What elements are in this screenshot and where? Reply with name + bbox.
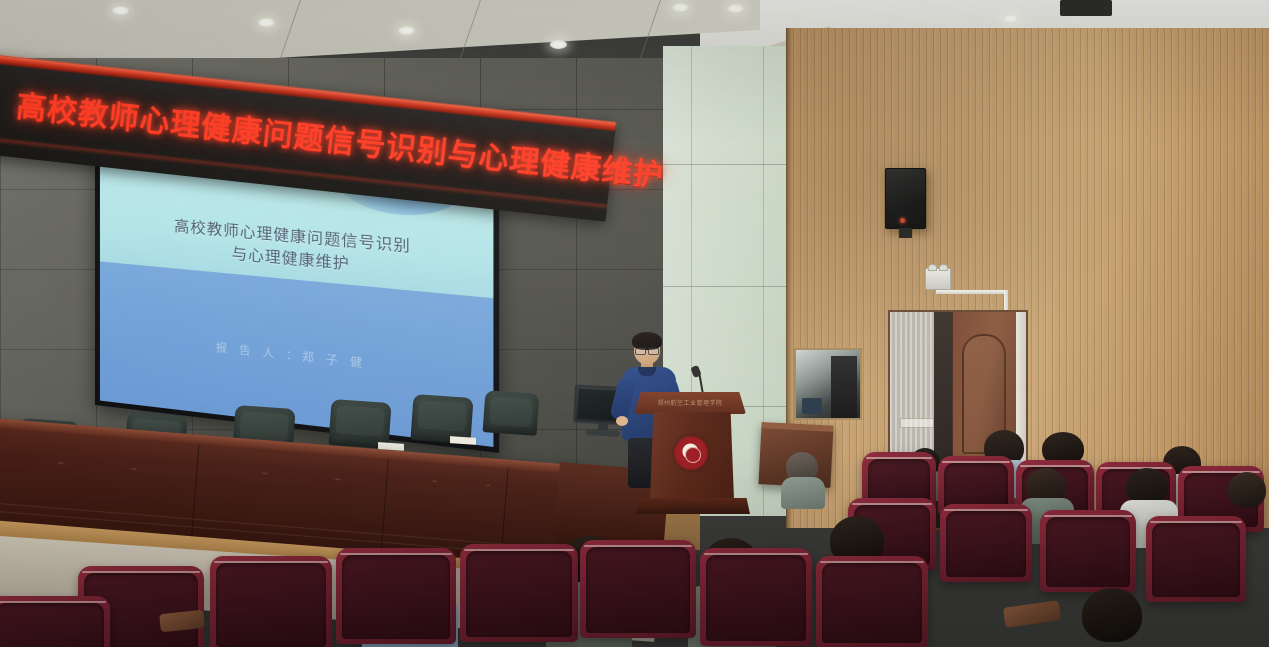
control-room-chair bbox=[802, 398, 822, 414]
ceiling-downlight bbox=[398, 26, 415, 35]
ceiling-downlight bbox=[1002, 14, 1019, 23]
ceiling-downlight bbox=[727, 4, 744, 13]
podium-body bbox=[650, 412, 734, 500]
projection-control-window bbox=[794, 348, 862, 420]
presenter-hand-left bbox=[616, 416, 628, 426]
auditorium-seat[interactable] bbox=[1146, 516, 1246, 602]
speaker-mount-bracket bbox=[899, 228, 912, 238]
seat-cushion bbox=[822, 563, 922, 643]
seat-cushion bbox=[706, 555, 806, 641]
podium-base bbox=[636, 498, 750, 514]
wall-conduit-horizontal bbox=[936, 290, 1008, 294]
ceiling-downlight bbox=[672, 3, 689, 12]
control-room-interior bbox=[831, 356, 857, 418]
university-emblem-icon bbox=[674, 436, 708, 470]
seat-cushion bbox=[586, 547, 690, 633]
auditorium-seat[interactable] bbox=[816, 556, 928, 647]
head-table-chevron-inlay bbox=[225, 469, 377, 507]
podium-top: 郑州航空工业管理学院 bbox=[634, 392, 746, 414]
glasses-icon bbox=[634, 347, 659, 352]
ceiling-downlight bbox=[112, 6, 129, 15]
seat-cushion bbox=[1046, 517, 1130, 587]
stage-chair[interactable] bbox=[483, 390, 540, 436]
podium-plate-text: 郑州航空工业管理学院 bbox=[634, 398, 746, 407]
head-table-chevron-inlay bbox=[21, 459, 173, 497]
emergency-lamp-left-icon bbox=[928, 264, 937, 271]
wall-speaker bbox=[885, 168, 926, 229]
ceiling-downlight bbox=[550, 40, 567, 49]
seat-cushion bbox=[1152, 523, 1240, 597]
auditorium-seat[interactable] bbox=[580, 540, 696, 638]
auditorium-seat[interactable] bbox=[460, 544, 578, 642]
seat-cushion bbox=[466, 551, 572, 637]
door-sign bbox=[900, 418, 934, 428]
ceiling-downlight bbox=[258, 18, 275, 27]
seat-cushion bbox=[342, 555, 450, 639]
emergency-light bbox=[925, 268, 951, 290]
auditorium-photo: 高校教师心理健康问题信号识别 与心理健康维护 报 告 人 ：郑 子 健 高校教师… bbox=[0, 0, 1269, 647]
seat-armrest bbox=[1003, 600, 1061, 628]
speaker-power-led-icon bbox=[900, 218, 905, 223]
person-head bbox=[1228, 472, 1266, 508]
head-table-chevron-inlay bbox=[404, 478, 516, 513]
person-body bbox=[781, 477, 825, 509]
auditorium-seat[interactable] bbox=[940, 504, 1032, 582]
auditorium-seat[interactable] bbox=[1040, 510, 1136, 592]
seat-cushion bbox=[0, 603, 104, 647]
auditorium-seat[interactable] bbox=[0, 596, 110, 647]
seat-cushion bbox=[946, 511, 1026, 577]
auditorium-seat[interactable] bbox=[700, 548, 812, 646]
auditorium-seat[interactable] bbox=[336, 548, 456, 644]
emergency-lamp-right-icon bbox=[939, 264, 948, 271]
ceiling-vent bbox=[1060, 0, 1112, 16]
auditorium-seat[interactable] bbox=[210, 556, 332, 647]
seat-cushion bbox=[216, 563, 326, 647]
sage-seam bbox=[663, 164, 791, 165]
person-head bbox=[1082, 588, 1142, 642]
sage-seam bbox=[663, 286, 791, 287]
